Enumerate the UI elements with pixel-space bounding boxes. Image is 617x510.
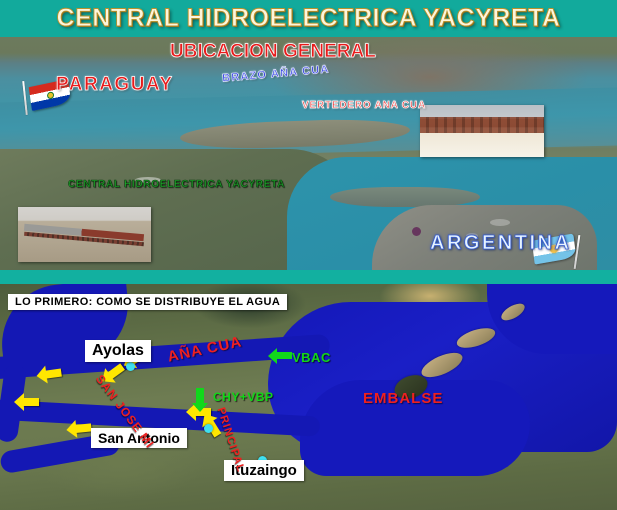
station-marker-ayolas (126, 362, 135, 371)
terrain-speck (490, 219, 510, 226)
secondary-sandbar (330, 187, 480, 207)
ayolas-place-label: Ayolas (85, 340, 151, 362)
slide-root: CENTRAL HIDROELECTRICA YACYRETA (0, 0, 617, 510)
station-marker-san-antonio (204, 424, 213, 433)
paraguay-country-label: PARAGUAY (56, 74, 174, 96)
chy-vbp-label: CHY+VBP (213, 390, 274, 404)
bottom-satellite-imagery (0, 284, 617, 510)
argentina-country-label: ARGENTINA (430, 232, 571, 255)
embalse-label: EMBALSE (363, 390, 443, 407)
terrain-speck (412, 227, 421, 236)
title-banner: CENTRAL HIDROELECTRICA YACYRETA (0, 0, 617, 37)
page-title: CENTRAL HIDROELECTRICA YACYRETA (57, 4, 561, 33)
ubicacion-general-heading: UBICACION GENERAL (170, 41, 376, 63)
spillway-foam (420, 133, 544, 157)
powerhouse-photo (18, 207, 151, 262)
bottom-satellite-panel: LO PRIMERO: COMO SE DISTRIBUYE EL AGUA A… (0, 284, 617, 510)
distribution-header: LO PRIMERO: COMO SE DISTRIBUYE EL AGUA (8, 294, 287, 310)
spillway-photo (420, 105, 544, 157)
vbac-label: VBAC (292, 350, 331, 365)
top-satellite-panel: UBICACION GENERAL PARAGUAY BRAZO AÑA CUA… (0, 37, 617, 270)
paraguay-flag-emblem (46, 91, 54, 99)
central-hidroelectrica-label: CENTRAL HIDROELECTRICA YACYRETA (68, 179, 285, 190)
vertedero-ana-cua-label: VERTEDERO ANA CUA (302, 100, 426, 111)
